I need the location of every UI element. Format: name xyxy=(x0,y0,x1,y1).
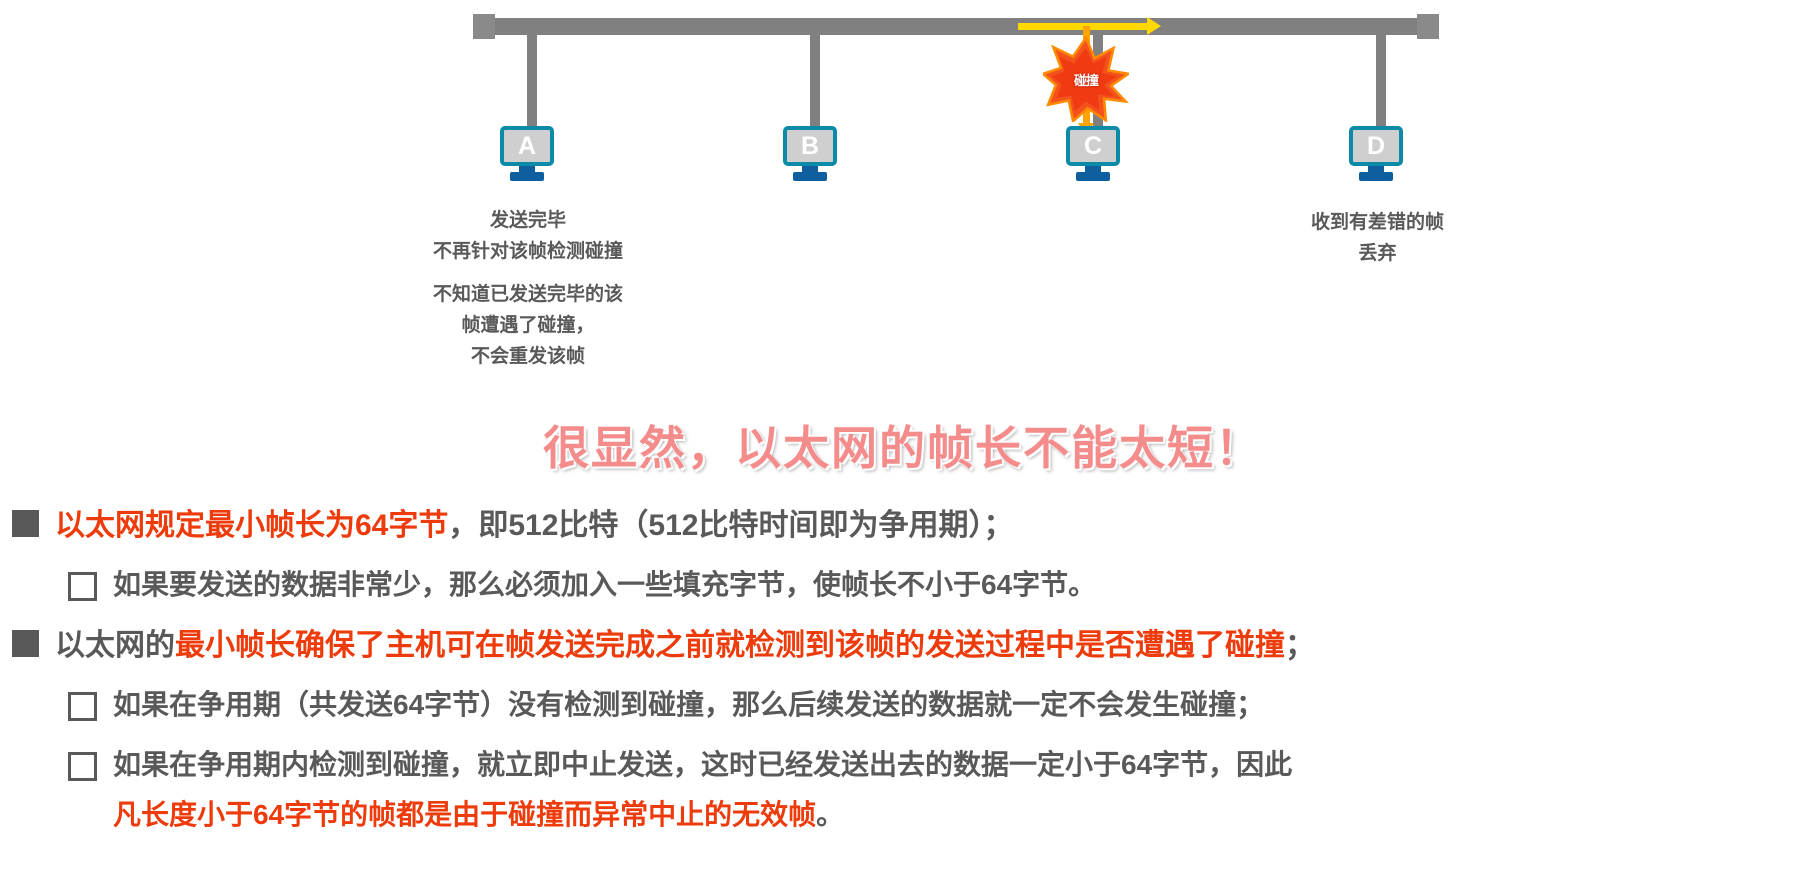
hollow-square-marker-icon xyxy=(68,572,97,601)
bullet-2-gray-suffix: ； xyxy=(1285,629,1315,662)
bullet-level1-item-2: 以太网的最小帧长确保了主机可在帧发送完成之前就检测到该帧的发送过程中是否遭遇了碰… xyxy=(0,620,1806,672)
bullet-2-gray-prefix: 以太网的 xyxy=(55,629,175,662)
host-a-base xyxy=(510,172,544,181)
bullet-1-sub-1-text: 如果要发送的数据非常少，那么必须加入一些填充字节，使帧长不小于64字节。 xyxy=(113,560,1096,610)
network-diagram: 碰撞 A B C D 发送完毕 不再针对该帧检测碰撞 不知道已发送完毕的该 帧遭… xyxy=(0,0,1806,400)
caption-a-line2: 不再针对该帧检测碰撞 xyxy=(328,236,728,267)
caption-host-a: 发送完毕 不再针对该帧检测碰撞 不知道已发送完毕的该 帧遭遇了碰撞， 不会重发该… xyxy=(328,205,728,372)
host-d: D xyxy=(1349,126,1403,181)
hollow-square-marker-icon xyxy=(68,692,97,721)
bullet-list: 以太网规定最小帧长为64字节，即512比特（512比特时间即为争用期）； 如果要… xyxy=(0,500,1806,850)
bullet-level2-item-2: 如果在争用期（共发送64字节）没有检测到碰撞，那么后续发送的数据就一定不会发生碰… xyxy=(0,680,1806,730)
host-d-base xyxy=(1359,172,1393,181)
bullet-1-text: 以太网规定最小帧长为64字节，即512比特（512比特时间即为争用期）； xyxy=(55,500,1013,552)
bullet-level2-item-3: 如果在争用期内检测到碰撞，就立即中止发送，这时已经发送出去的数据一定小于64字节… xyxy=(0,740,1806,840)
bus-cable xyxy=(478,18,1438,35)
filled-square-marker-icon xyxy=(12,510,39,537)
bullet-2-sub-2-line2-red: 凡长度小于64字节的帧都是由于碰撞而异常中止的无效帧 xyxy=(113,799,816,830)
drop-line-b xyxy=(810,28,820,136)
host-c-screen: C xyxy=(1066,126,1120,166)
bullet-2-sub-2-line2-tail: 。 xyxy=(816,799,844,830)
bullet-2-red: 最小帧长确保了主机可在帧发送完成之前就检测到该帧的发送过程中是否遭遇了碰撞 xyxy=(175,629,1285,662)
collision-label: 碰撞 xyxy=(1043,36,1129,122)
host-d-screen: D xyxy=(1349,126,1403,166)
drop-line-d xyxy=(1376,28,1386,136)
hollow-square-marker-icon xyxy=(68,752,97,781)
caption-host-d: 收到有差错的帧 丢弃 xyxy=(1185,207,1570,269)
caption-a-line3: 不知道已发送完毕的该 xyxy=(328,279,728,310)
bullet-2-text: 以太网的最小帧长确保了主机可在帧发送完成之前就检测到该帧的发送过程中是否遭遇了碰… xyxy=(55,620,1315,672)
caption-a-line4: 帧遭遇了碰撞， xyxy=(328,310,728,341)
bullet-1-gray: ，即512比特（512比特时间即为争用期）； xyxy=(448,509,1013,542)
host-b-base xyxy=(793,172,827,181)
host-a-screen: A xyxy=(500,126,554,166)
bus-terminator-right xyxy=(1417,14,1439,39)
bullet-2-sub-2-text: 如果在争用期内检测到碰撞，就立即中止发送，这时已经发送出去的数据一定小于64字节… xyxy=(113,740,1292,840)
caption-a-line5: 不会重发该帧 xyxy=(328,341,728,372)
bullet-2-sub-1-text: 如果在争用期（共发送64字节）没有检测到碰撞，那么后续发送的数据就一定不会发生碰… xyxy=(113,680,1264,730)
host-c-base xyxy=(1076,172,1110,181)
collision-star-icon: 碰撞 xyxy=(1043,36,1129,122)
bus-terminator-left xyxy=(473,14,495,39)
caption-a-line1: 发送完毕 xyxy=(328,205,728,236)
bullet-2-sub-2-line1: 如果在争用期内检测到碰撞，就立即中止发送，这时已经发送出去的数据一定小于64字节… xyxy=(113,749,1292,780)
host-c: C xyxy=(1066,126,1120,181)
bullet-1-red: 以太网规定最小帧长为64字节 xyxy=(55,509,448,542)
caption-d-line2: 丢弃 xyxy=(1185,238,1570,269)
host-a: A xyxy=(500,126,554,181)
bullet-level2-item-1: 如果要发送的数据非常少，那么必须加入一些填充字节，使帧长不小于64字节。 xyxy=(0,560,1806,610)
headline: 很显然，以太网的帧长不能太短！ xyxy=(0,412,1806,478)
bullet-level1-item-1: 以太网规定最小帧长为64字节，即512比特（512比特时间即为争用期）； xyxy=(0,500,1806,552)
host-b-screen: B xyxy=(783,126,837,166)
drop-line-a xyxy=(527,28,537,136)
host-b: B xyxy=(783,126,837,181)
filled-square-marker-icon xyxy=(12,630,39,657)
bullet-2-sub-2-line2: 凡长度小于64字节的帧都是由于碰撞而异常中止的无效帧。 xyxy=(113,790,1292,840)
caption-d-line1: 收到有差错的帧 xyxy=(1185,207,1570,238)
